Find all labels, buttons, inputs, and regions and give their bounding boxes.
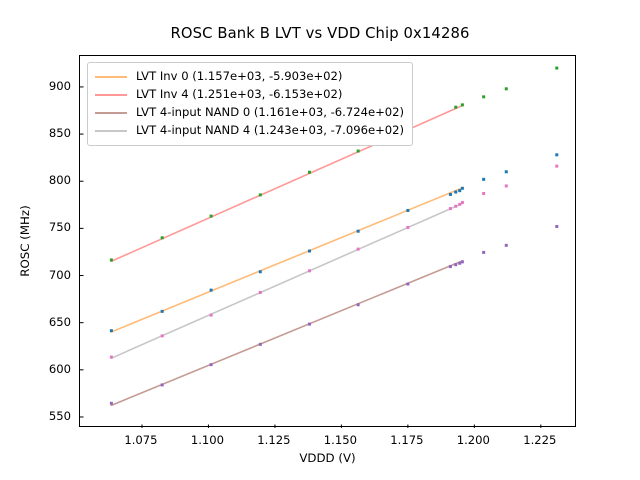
legend-label: LVT Inv 0 (1.157e+03, -5.903e+02) — [136, 71, 342, 83]
x-tick-label: 1.150 — [324, 433, 357, 447]
data-point — [259, 343, 262, 346]
data-point — [461, 103, 464, 106]
fit-line-2 — [111, 261, 462, 406]
legend-item-0: LVT Inv 0 (1.157e+03, -5.903e+02) — [95, 68, 404, 86]
fit-line-3 — [111, 203, 462, 358]
data-point — [259, 291, 262, 294]
data-point — [482, 192, 485, 195]
data-point — [210, 215, 213, 218]
data-point — [461, 201, 464, 204]
data-point — [458, 203, 461, 206]
data-point — [210, 363, 213, 366]
x-tick-label: 1.100 — [191, 433, 224, 447]
y-tick-label: 600 — [49, 362, 71, 376]
data-point — [259, 270, 262, 273]
data-point — [308, 171, 311, 174]
data-point — [210, 289, 213, 292]
x-tick-label: 1.175 — [390, 433, 423, 447]
data-point — [505, 184, 508, 187]
data-point — [505, 244, 508, 247]
data-point — [161, 310, 164, 313]
data-point — [308, 323, 311, 326]
data-point — [454, 263, 457, 266]
data-point — [357, 303, 360, 306]
data-point — [449, 207, 452, 210]
data-point — [555, 165, 558, 168]
data-point — [482, 178, 485, 181]
data-point — [406, 226, 409, 229]
data-point — [357, 230, 360, 233]
y-tick-label: 550 — [49, 409, 71, 423]
x-tick-label: 1.200 — [457, 433, 490, 447]
data-point — [210, 314, 213, 317]
data-point — [308, 269, 311, 272]
data-point — [110, 356, 113, 359]
data-point — [458, 189, 461, 192]
data-point — [555, 153, 558, 156]
y-tick-label: 700 — [49, 268, 71, 282]
legend-color-swatch — [95, 76, 127, 78]
data-point — [161, 334, 164, 337]
data-point — [555, 225, 558, 228]
chart-title: ROSC Bank B LVT vs VDD Chip 0x14286 — [0, 25, 640, 42]
x-axis-label: VDDD (V) — [79, 451, 576, 465]
data-point — [357, 150, 360, 153]
data-point — [482, 251, 485, 254]
data-point — [461, 187, 464, 190]
data-point — [555, 67, 558, 70]
matplotlib-figure: ROSC Bank B LVT vs VDD Chip 0x14286 ROSC… — [0, 0, 640, 480]
legend-item-3: LVT 4-input NAND 4 (1.243e+03, -7.096e+0… — [95, 122, 404, 140]
data-point — [458, 262, 461, 265]
y-tick-label: 750 — [49, 220, 71, 234]
data-point — [505, 87, 508, 90]
y-tick-label: 850 — [49, 126, 71, 140]
y-tick-label: 650 — [49, 315, 71, 329]
data-point — [449, 193, 452, 196]
y-tick-label: 900 — [49, 79, 71, 93]
data-point — [259, 193, 262, 196]
data-point — [482, 95, 485, 98]
legend-label: LVT Inv 4 (1.251e+03, -6.153e+02) — [136, 89, 342, 101]
legend-label: LVT 4-input NAND 0 (1.161e+03, -6.724e+0… — [136, 107, 404, 119]
legend-item-1: LVT Inv 4 (1.251e+03, -6.153e+02) — [95, 86, 404, 104]
x-tick-label: 1.075 — [124, 433, 157, 447]
data-point — [454, 205, 457, 208]
data-point — [454, 191, 457, 194]
data-point — [406, 209, 409, 212]
data-point — [454, 106, 457, 109]
legend-item-2: LVT 4-input NAND 0 (1.161e+03, -6.724e+0… — [95, 104, 404, 122]
data-point — [110, 402, 113, 405]
legend: LVT Inv 0 (1.157e+03, -5.903e+02)LVT Inv… — [87, 62, 413, 146]
legend-color-swatch — [95, 112, 127, 114]
data-point — [161, 383, 164, 386]
data-point — [505, 170, 508, 173]
data-point — [449, 265, 452, 268]
data-point — [110, 258, 113, 261]
x-tick-label: 1.225 — [523, 433, 556, 447]
data-point — [110, 329, 113, 332]
data-point — [461, 260, 464, 263]
x-axis-tick-labels: 1.0751.1001.1251.1501.1751.2001.225 — [79, 433, 576, 451]
y-axis-tick-labels: 550600650700750800850900 — [0, 55, 71, 427]
legend-color-swatch — [95, 130, 127, 132]
data-point — [357, 248, 360, 251]
legend-label: LVT 4-input NAND 4 (1.243e+03, -7.096e+0… — [136, 125, 404, 137]
y-tick-label: 800 — [49, 173, 71, 187]
data-point — [308, 250, 311, 253]
legend-color-swatch — [95, 94, 127, 96]
fit-line-0 — [111, 188, 462, 332]
data-point — [406, 283, 409, 286]
data-point — [161, 236, 164, 239]
x-tick-label: 1.125 — [257, 433, 290, 447]
